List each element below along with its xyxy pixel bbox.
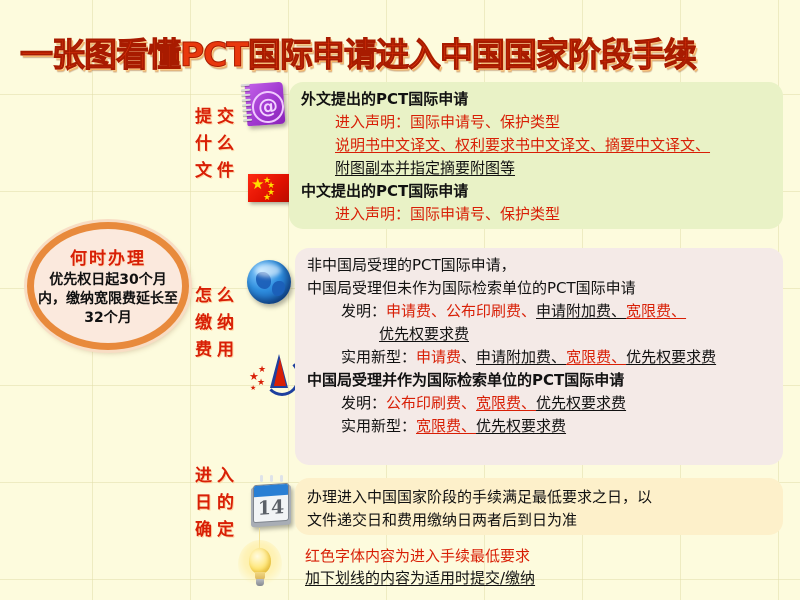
text-run: 国际申请号、保护类型: [410, 205, 560, 223]
page-title: 一张图看懂PCT国际申请进入中国国家阶段手续: [20, 28, 720, 72]
text-run: 进入声明：: [335, 113, 410, 131]
infographic-canvas: 一张图看懂PCT国际申请进入中国国家阶段手续 提交什么文件 怎么缴纳费用 进入日…: [0, 0, 800, 600]
text-run: 说明书中文译文、权利要求书中文译文、摘要中文译文、: [335, 136, 710, 154]
text-run: 宽限费、: [476, 394, 536, 412]
text-run: 、: [461, 348, 476, 366]
stage-label-line: 缴纳: [186, 310, 248, 337]
stage-label-line: 文件: [186, 158, 248, 185]
text-line: 办理进入中国国家阶段的手续满足最低要求之日，以: [307, 486, 773, 509]
text-run: 非中国局受理的PCT国际申请，: [307, 256, 516, 274]
stage-label-line: 什么: [186, 131, 248, 158]
text-line: 加下划线的内容为适用时提交/缴纳: [305, 567, 535, 589]
text-run: 实用新型：: [341, 348, 416, 366]
text-run: 发明：: [341, 394, 386, 412]
stage-label-line: 日的: [186, 490, 248, 517]
calendar-icon: 14: [248, 478, 296, 530]
text-line: 中文提出的PCT国际申请: [301, 180, 773, 203]
lightbulb-icon: [238, 540, 282, 592]
text-run: 优先权要求费: [379, 325, 469, 343]
text-run: 申请费: [416, 348, 461, 366]
text-line: 外文提出的PCT国际申请: [301, 88, 773, 111]
text-run: 实用新型：: [341, 417, 416, 435]
text-run: 进入声明：: [335, 205, 410, 223]
stage-label-how-to-pay-fees: 怎么缴纳费用: [186, 283, 248, 364]
text-run: 国际申请号、保护类型: [410, 113, 560, 131]
text-run: 申请附加费、: [536, 302, 626, 320]
fees-panel: 非中国局受理的PCT国际申请，中国局受理但未作为国际检索单位的PCT国际申请发明…: [295, 248, 783, 465]
stage-label-submit-what-documents: 提交什么文件: [186, 104, 248, 185]
stage-label-line: 提交: [186, 104, 248, 131]
text-run: 办理进入中国国家阶段的手续满足最低要求之日，以: [307, 488, 652, 506]
entry-date-panel: 办理进入中国国家阶段的手续满足最低要求之日，以文件递交日和费用缴纳日两者后到日为…: [295, 478, 783, 535]
text-run: 外文提出的PCT国际申请: [301, 90, 468, 108]
text-run: 优先权要求费: [626, 348, 716, 366]
text-line: 非中国局受理的PCT国际申请，: [307, 254, 773, 277]
text-run: 申请附加费、: [476, 348, 566, 366]
text-run: 中国局受理并作为国际检索单位的PCT国际申请: [307, 371, 624, 389]
text-run: 中国局受理但未作为国际检索单位的PCT国际申请: [307, 279, 636, 297]
text-line: 附图副本并指定摘要附图等: [301, 157, 773, 180]
text-run: 优先权要求费: [536, 394, 626, 412]
text-run: 申请费、公布印刷费、: [386, 302, 536, 320]
entry-date-panel-text: 办理进入中国国家阶段的手续满足最低要求之日，以文件递交日和费用缴纳日两者后到日为…: [295, 478, 783, 535]
when-to-handle-title: 何时办理: [70, 244, 146, 269]
documents-panel-text: 外文提出的PCT国际申请进入声明：国际申请号、保护类型说明书中文译文、权利要求书…: [289, 82, 783, 229]
text-line: 进入声明：国际申请号、保护类型: [301, 203, 773, 226]
legend-note: 红色字体内容为进入手续最低要求加下划线的内容为适用时提交/缴纳: [305, 545, 535, 589]
text-line: 发明：公布印刷费、宽限费、优先权要求费: [307, 392, 773, 415]
text-run: 宽限费、: [626, 302, 686, 320]
text-run: 红色字体内容为进入手续最低要求: [305, 547, 530, 565]
stage-label-entry-date: 进入日的确定: [186, 463, 248, 544]
globe-icon: [245, 258, 293, 306]
text-line: 进入声明：国际申请号、保护类型: [301, 111, 773, 134]
text-run: 优先权要求费: [476, 417, 566, 435]
text-line: 优先权要求费: [307, 323, 773, 346]
text-line: 实用新型：申请费、申请附加费、宽限费、优先权要求费: [307, 346, 773, 369]
text-run: 公布印刷费、: [386, 394, 476, 412]
text-line: 红色字体内容为进入手续最低要求: [305, 545, 535, 567]
text-line: 中国局受理但未作为国际检索单位的PCT国际申请: [307, 277, 773, 300]
stage-label-line: 费用: [186, 337, 248, 364]
notebook-at-icon: @: [240, 80, 286, 128]
china-flag-icon: ★ ★★ ★★: [246, 172, 294, 206]
text-run: 宽限费、: [566, 348, 626, 366]
text-run: 附图副本并指定摘要附图等: [335, 159, 515, 177]
text-line: 实用新型：宽限费、优先权要求费: [307, 415, 773, 438]
text-line: 说明书中文译文、权利要求书中文译文、摘要中文译文、: [301, 134, 773, 157]
text-line: 中国局受理并作为国际检索单位的PCT国际申请: [307, 369, 773, 392]
text-line: 发明：申请费、公布印刷费、申请附加费、宽限费、: [307, 300, 773, 323]
text-run: 文件递交日和费用缴纳日两者后到日为准: [307, 511, 577, 529]
text-line: 文件递交日和费用缴纳日两者后到日为准: [307, 509, 773, 532]
text-run: 宽限费、: [416, 417, 476, 435]
cnipa-emblem-icon: ★★ ★★: [248, 352, 300, 394]
stage-label-line: 进入: [186, 463, 248, 490]
text-run: 加下划线的内容为适用时提交/缴纳: [305, 569, 535, 587]
when-to-handle-badge: 何时办理 优先权日起30个月内，缴纳宽限费延长至32个月: [27, 222, 189, 350]
fees-panel-text: 非中国局受理的PCT国际申请，中国局受理但未作为国际检索单位的PCT国际申请发明…: [295, 248, 783, 465]
stage-label-line: 怎么: [186, 283, 248, 310]
when-to-handle-body: 优先权日起30个月内，缴纳宽限费延长至32个月: [38, 271, 178, 328]
text-run: 发明：: [341, 302, 386, 320]
calendar-day: 14: [254, 495, 288, 522]
documents-panel: 外文提出的PCT国际申请进入声明：国际申请号、保护类型说明书中文译文、权利要求书…: [289, 82, 783, 229]
text-run: 中文提出的PCT国际申请: [301, 182, 468, 200]
